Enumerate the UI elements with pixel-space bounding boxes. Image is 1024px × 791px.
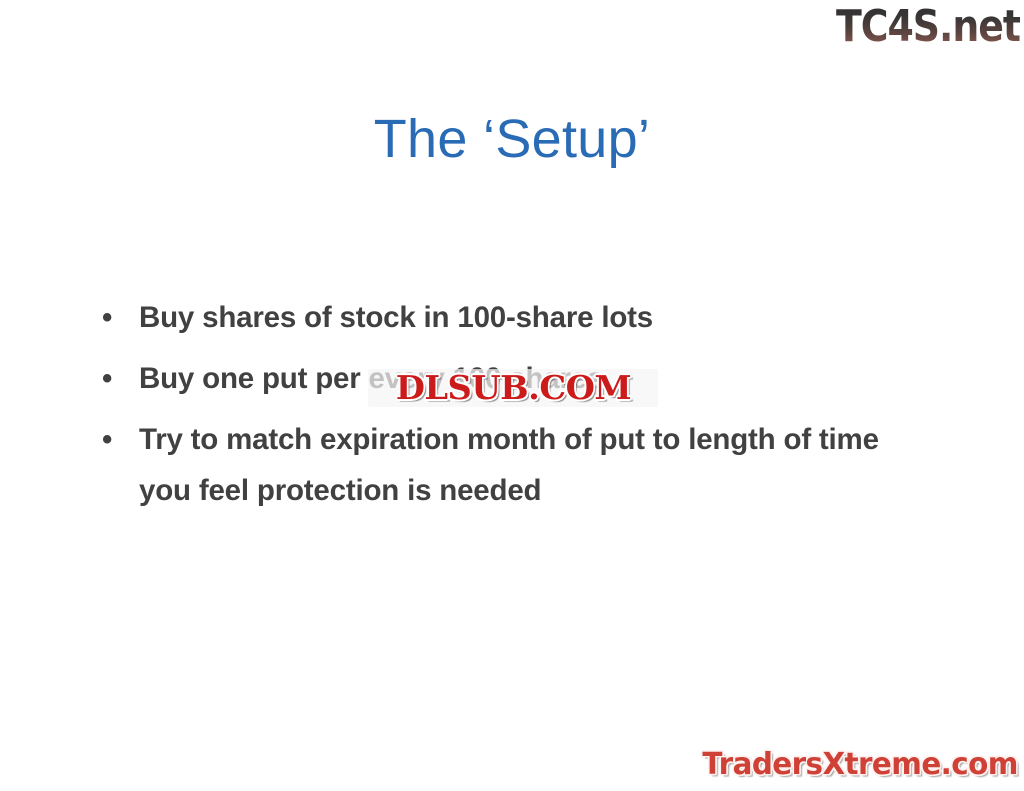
bullet-list: • Buy shares of stock in 100-share lots … [98,292,898,526]
bullet-item-3-text: Try to match expiration month of put to … [139,423,879,507]
bullet-point-icon: • [102,353,112,404]
presentation-slide: TC4S.net The ‘Setup’ • Buy shares of sto… [0,0,1024,791]
bullet-item-1-text: Buy shares of stock in 100-share lots [139,301,653,334]
bullet-item-3: • Try to match expiration month of put t… [98,414,898,516]
bullet-point-icon: • [102,414,112,465]
dlsub-watermark: DLSUB.COM [368,369,658,407]
dlsub-watermark-text: DLSUB.COM [395,371,630,405]
tc4s-brand-logo: TC4S.net [836,2,1020,52]
bullet-point-icon: • [102,292,112,343]
bullet-item-1: • Buy shares of stock in 100-share lots [98,292,898,343]
slide-title: The ‘Setup’ [0,108,1024,170]
tradersxtreme-brand-logo: TradersXtreme.com [703,747,1018,783]
